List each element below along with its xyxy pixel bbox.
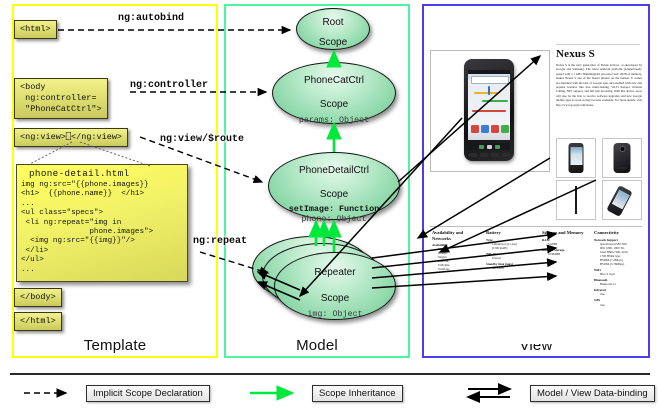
- camera-icon: [620, 147, 624, 151]
- scope-phonedetailctrl-prop-phone: phone: Object: [269, 214, 399, 224]
- scope-phonedetailctrl-title-2: Scope: [269, 177, 399, 201]
- key-search: [491, 153, 499, 157]
- code-box-html-open: <html>: [14, 20, 57, 39]
- nav-icon-apps: [487, 145, 492, 149]
- spec-heading-battery: Battery: [486, 230, 538, 236]
- legend-item-databinding: Model / View Data-binding: [466, 382, 655, 404]
- scope-phonecatctrl-title-1: PhoneCatCtrl: [273, 63, 395, 87]
- spec-value: true: [594, 303, 642, 307]
- legend-item-inheritance: Scope Inheritance: [248, 382, 403, 404]
- code-box-ng-view: <ng:view>⎕</ng:view>: [14, 128, 128, 147]
- label-ng-view-route: ng:view/$route: [160, 134, 244, 145]
- map-line-blue: [488, 86, 490, 95]
- sticky-note-phone-detail: phone-detail.html img ng:src="{{phone.im…: [16, 164, 188, 282]
- spec-heading-connectivity: Connectivity: [594, 230, 642, 236]
- spec-value: Vodafone: [432, 267, 480, 271]
- legend-divider: [10, 373, 650, 375]
- spec-value: 428 hours: [486, 266, 538, 270]
- label-ng-controller: ng:controller: [130, 80, 208, 91]
- scope-phonedetailctrl-prop-setimage: setImage: Function: [269, 204, 399, 214]
- phone-title: Nexus S: [556, 48, 595, 60]
- scope-root: Root Scope: [296, 8, 370, 50]
- map-line-red: [472, 110, 506, 112]
- spec-value: 6 hours: [486, 256, 538, 260]
- map-line-yellow: [474, 92, 498, 94]
- spec-column-connectivity: Connectivity Network Support Quad-band G…: [594, 230, 642, 307]
- phone-button-row: [468, 152, 510, 158]
- scope-repeater-title-1: Repeater: [275, 253, 395, 279]
- spec-value: Bluetooth 2.1: [594, 282, 642, 286]
- code-box-body-close: </body>: [14, 288, 62, 307]
- thumbnail-phone-angled[interactable]: [602, 180, 642, 220]
- thumb-front-screen: [570, 147, 582, 165]
- thumbnail-phone-front[interactable]: [556, 138, 596, 178]
- scope-phonedetailctrl-title-1: PhoneDetailCtrl: [269, 153, 399, 177]
- spec-column-availability: Availability and Networks Availability 3…: [432, 230, 480, 271]
- green-arrow-icon: [248, 382, 306, 404]
- key-menu: [480, 153, 488, 157]
- phone-description: Nexus S is the next generation of Nexus …: [556, 63, 642, 107]
- scope-root-title-2: Scope: [297, 29, 369, 49]
- spec-heading-availability: Availability and Networks: [432, 230, 480, 241]
- phone-navigation-bar: [468, 143, 510, 150]
- thumb-edge-icon: [575, 186, 577, 214]
- spec-value: 16384MB: [542, 252, 592, 256]
- spec-column-battery: Battery Type Lithium Ion (Li-Ion) (1500 …: [486, 230, 538, 270]
- key-home: [502, 153, 510, 157]
- view-rendered-page: Nexus S Nexus S is the next generation o…: [430, 14, 642, 344]
- phone-hero-image-frame: [430, 50, 550, 172]
- panel-model-label: Model: [226, 337, 408, 354]
- label-ng-repeat: ng:repeat: [193, 236, 247, 247]
- spec-value: true: [594, 292, 642, 296]
- scope-phonedetailctrl: PhoneDetailCtrl Scope setImage: Function…: [268, 152, 400, 220]
- legend: Implicit Scope Declaration Scope Inherit…: [10, 382, 650, 408]
- thumbnail-phone-edge[interactable]: [556, 180, 596, 220]
- title-divider: [556, 44, 640, 45]
- nav-icon-phone: [479, 145, 484, 149]
- scope-phonecatctrl-title-2: Scope: [273, 87, 395, 111]
- scope-repeater: Repeater Scope img: Object: [274, 252, 396, 320]
- legend-item-implicit: Implicit Scope Declaration: [22, 382, 210, 404]
- spec-value: (1500 mAH): [486, 246, 538, 250]
- sticky-note-code: img ng:src="{{phone.images}} <h1> {{phon…: [21, 181, 183, 275]
- spec-value: 802.11 b/g/n: [594, 272, 642, 276]
- key-back: [469, 153, 477, 157]
- phone-statusbar-icon: [468, 70, 510, 74]
- spec-divider: [430, 226, 642, 227]
- spec-table: Availability and Networks Availability 3…: [430, 226, 642, 322]
- code-box-body-open: <body ng:controller= "PhoneCatCtrl">: [14, 78, 108, 119]
- diagram-canvas: Template Model View <html> <body ng:cont…: [0, 0, 660, 420]
- double-arrow-icon: [466, 382, 524, 404]
- phone-app-dock: [468, 122, 510, 140]
- legend-label-inheritance: Scope Inheritance: [312, 385, 403, 402]
- spec-value: 512MB: [542, 242, 592, 246]
- dashed-arrow-icon: [22, 382, 80, 404]
- scope-repeater-title-2: Scope: [275, 279, 395, 305]
- app-icon-3: [491, 125, 499, 133]
- app-icon-2: [481, 125, 489, 133]
- code-box-html-close: </html>: [14, 312, 62, 331]
- spec-value: HSUPA (5.76Mbps): [594, 262, 642, 266]
- phone-device-illustration: [464, 59, 514, 161]
- spec-column-storage: Storage and Memory RAM 512MB Internal St…: [542, 230, 592, 256]
- thumbnail-phone-back[interactable]: [602, 138, 642, 178]
- thumb-front-icon: [569, 143, 584, 173]
- thumb-angled-screen: [611, 189, 629, 209]
- sticky-note-title: phone-detail.html: [21, 167, 183, 181]
- map-line-green: [482, 100, 508, 102]
- spec-heading-storage: Storage and Memory: [542, 230, 592, 236]
- legend-label-databinding: Model / View Data-binding: [530, 385, 655, 402]
- phone-screen: [468, 70, 510, 140]
- scope-phonecatctrl: PhoneCatCtrl Scope params: Object: [272, 62, 396, 124]
- app-icon-1: [471, 125, 479, 133]
- panel-template-label: Template: [14, 337, 216, 354]
- legend-label-implicit: Implicit Scope Declaration: [86, 385, 210, 402]
- app-icon-4: [501, 125, 509, 133]
- thumb-angled-icon: [606, 185, 632, 217]
- scope-phonecatctrl-prop-params: params: Object: [273, 115, 395, 125]
- phone-searchbar-widget: [471, 76, 509, 84]
- scope-root-title-1: Root: [297, 9, 369, 29]
- label-ng-autobind: ng:autobind: [118, 13, 184, 24]
- nav-icon-browser: [495, 145, 500, 149]
- speaker-icon: [618, 167, 627, 169]
- scope-repeater-prop-img: img: Object: [275, 309, 395, 319]
- thumb-back-icon: [614, 143, 631, 173]
